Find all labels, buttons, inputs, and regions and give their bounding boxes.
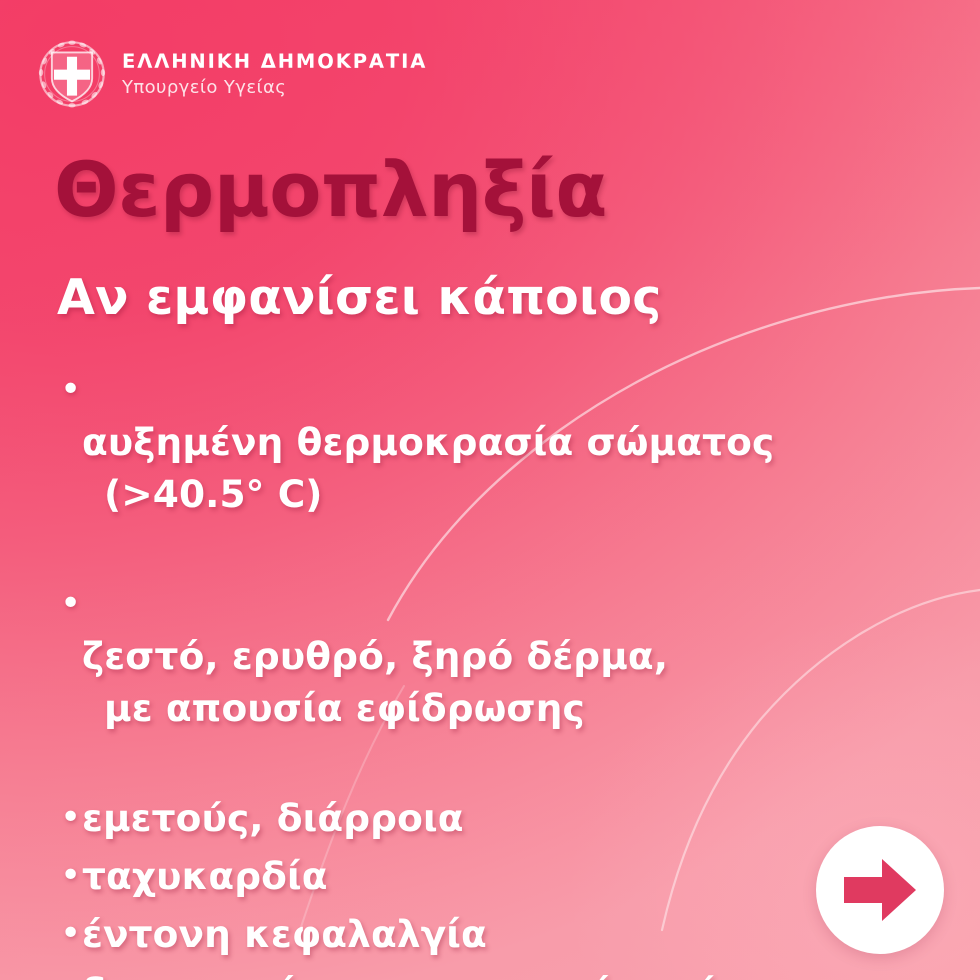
list-item: • ταχυκαρδία (60, 850, 940, 902)
list-item-line2: (>40.5° C) (82, 468, 774, 520)
organization-name: ΕΛΛΗΝΙΚΗ ΔΗΜΟΚΡΑΤΙΑ (122, 51, 427, 73)
list-item: • ζεστό, ερυθρό, ξηρό δέρμα, με απουσία … (60, 578, 940, 786)
arrow-right-icon (842, 857, 918, 923)
header-branding: ΕΛΛΗΝΙΚΗ ΔΗΜΟΚΡΑΤΙΑ Υπουργείο Υγείας (36, 38, 427, 110)
list-item-label: έντονη κεφαλαλγία (82, 908, 487, 960)
list-item: • εμετούς, διάρροια (60, 792, 940, 844)
bullet-icon: • (60, 578, 82, 630)
list-item-label: ζεστό, ερυθρό, ξηρό δέρμα, με απουσία εφ… (82, 578, 668, 786)
list-item: • αυξημένη θερμοκρασία σώματος (>40.5° C… (60, 364, 940, 572)
next-slide-button[interactable] (816, 826, 944, 954)
list-item-label: αυξημένη θερμοκρασία σώματος (>40.5° C) (82, 364, 774, 572)
list-item-label: εμετούς, διάρροια (82, 792, 464, 844)
bullet-icon: • (60, 792, 82, 844)
list-item-label: διαταραχές συμπεριφοράς, σύγχυση (82, 966, 851, 980)
bullet-icon: • (60, 364, 82, 416)
bullet-icon: • (60, 850, 82, 902)
page-title: Θερμοπληξία (54, 152, 607, 228)
bullet-icon: • (60, 966, 82, 980)
ministry-name: Υπουργείο Υγείας (122, 76, 427, 99)
infographic-card: ΕΛΛΗΝΙΚΗ ΔΗΜΟΚΡΑΤΙΑ Υπουργείο Υγείας Θερ… (0, 0, 980, 980)
list-item: • έντονη κεφαλαλγία (60, 908, 940, 960)
list-item-label: ταχυκαρδία (82, 850, 328, 902)
brand-text-block: ΕΛΛΗΝΙΚΗ ΔΗΜΟΚΡΑΤΙΑ Υπουργείο Υγείας (122, 49, 427, 100)
greek-coat-of-arms-icon (36, 38, 108, 110)
list-item-line1: ζεστό, ερυθρό, ξηρό δέρμα, (82, 634, 668, 678)
list-item: • διαταραχές συμπεριφοράς, σύγχυση (60, 966, 940, 980)
list-item-line2: με απουσία εφίδρωσης (82, 682, 668, 734)
page-subtitle: Αν εμφανίσει κάποιος (57, 272, 661, 323)
bullet-icon: • (60, 908, 82, 960)
symptom-list: • αυξημένη θερμοκρασία σώματος (>40.5° C… (60, 364, 940, 980)
list-item-line1: αυξημένη θερμοκρασία σώματος (82, 420, 774, 464)
